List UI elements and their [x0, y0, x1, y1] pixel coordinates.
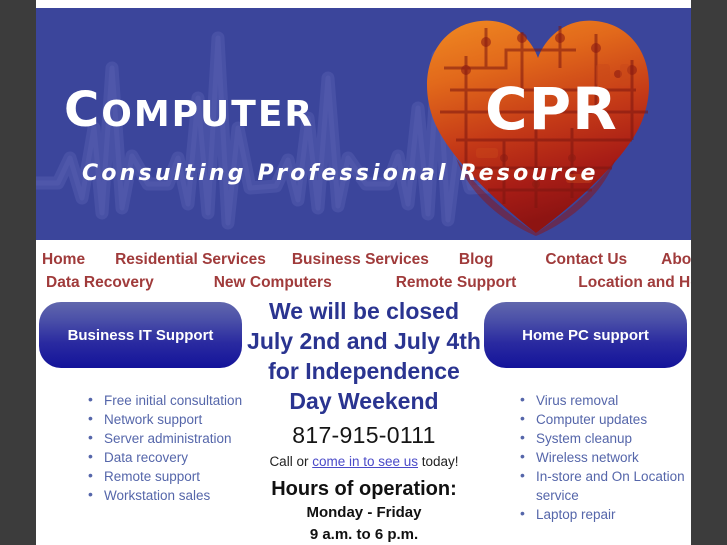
phone-number: 817-915-0111 [246, 420, 482, 450]
main-navigation: Home Residential Services Business Servi… [36, 248, 691, 294]
call-to-action-line: Call or come in to see us today! [246, 452, 482, 472]
list-item: Wireless network [518, 448, 691, 467]
call-suffix-text: today! [418, 454, 459, 469]
nav-link-about-us[interactable]: About Us [661, 248, 691, 271]
site-banner: COMPUTER CPR Consulting Professional Res… [36, 8, 691, 240]
list-item: Network support [86, 410, 261, 429]
site-content-area: COMPUTER CPR Consulting Professional Res… [36, 0, 691, 545]
nav-link-home[interactable]: Home [42, 248, 85, 271]
business-services-list: Free initial consultation Network suppor… [86, 391, 261, 505]
home-pc-support-button[interactable]: Home PC support [484, 302, 687, 368]
business-it-support-button[interactable]: Business IT Support [39, 302, 242, 368]
come-in-to-see-us-link[interactable]: come in to see us [312, 454, 418, 469]
list-item: Data recovery [86, 448, 261, 467]
nav-link-residential-services[interactable]: Residential Services [115, 248, 266, 271]
nav-link-business-services[interactable]: Business Services [292, 248, 429, 271]
nav-row-secondary: Data Recovery New Computers Remote Suppo… [36, 271, 691, 294]
center-info-column: We will be closed July 2nd and July 4th … [246, 296, 482, 545]
call-prefix-text: Call or [269, 454, 312, 469]
banner-graphic [36, 8, 691, 240]
nav-link-blog[interactable]: Blog [459, 248, 493, 271]
closure-announcement: We will be closed July 2nd and July 4th … [246, 296, 482, 416]
nav-row-primary: Home Residential Services Business Servi… [36, 248, 691, 271]
nav-link-new-computers[interactable]: New Computers [214, 271, 332, 294]
list-item: System cleanup [518, 429, 691, 448]
nav-link-location-and-hours[interactable]: Location and Hours [578, 271, 691, 294]
list-item: Computer updates [518, 410, 691, 429]
list-item: Virus removal [518, 391, 691, 410]
hours-of-operation-heading: Hours of operation: [246, 476, 482, 502]
nav-link-contact-us[interactable]: Contact Us [545, 248, 627, 271]
list-item: Remote support [86, 467, 261, 486]
list-item: In-store and On Location service [518, 467, 691, 505]
home-services-list: Virus removal Computer updates System cl… [518, 391, 691, 524]
nav-link-data-recovery[interactable]: Data Recovery [46, 271, 154, 294]
list-item: Server administration [86, 429, 261, 448]
list-item: Laptop repair [518, 505, 691, 524]
hours-line-weekday-times: 9 a.m. to 6 p.m. [246, 524, 482, 545]
list-item: Workstation sales [86, 486, 261, 505]
page-root: COMPUTER CPR Consulting Professional Res… [0, 0, 727, 545]
hours-line-weekdays: Monday - Friday [246, 502, 482, 524]
nav-link-remote-support[interactable]: Remote Support [396, 271, 517, 294]
list-item: Free initial consultation [86, 391, 261, 410]
